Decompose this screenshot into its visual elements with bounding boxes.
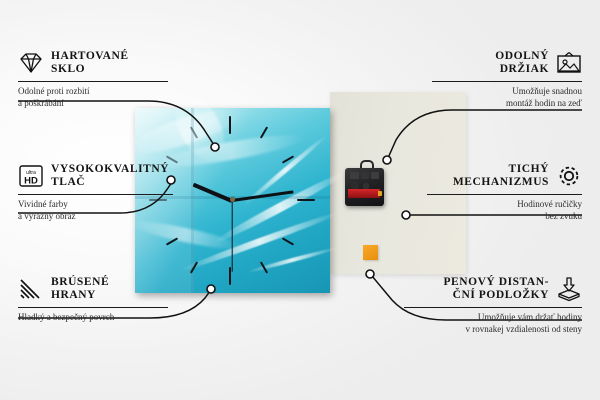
feature-desc-line1: Odolné proti rozbití xyxy=(18,86,90,96)
feature-ground-edges: BRÚSENÉ HRANY Hladký a bezpečný povrch xyxy=(18,276,168,324)
feature-title-line2: ČNÍ PODLOŽKY xyxy=(453,289,549,301)
feature-desc-line2: bez zvuku xyxy=(545,211,582,221)
feature-title-line1: PENOVÝ DISTAN- xyxy=(443,276,549,288)
feature-desc-line2: montáž hodin na zeď xyxy=(506,98,582,108)
feature-title-line1: ODOLNÝ xyxy=(495,50,549,62)
feature-title-line2: MECHANIZMUS xyxy=(453,176,549,188)
feature-foam-spacers: PENOVÝ DISTAN- ČNÍ PODLOŽKY Umožňuje vám… xyxy=(404,276,582,335)
feature-desc-line1: Umožňuje snadnou xyxy=(512,86,582,96)
hour-tick xyxy=(282,237,294,245)
feature-title-line1: BRÚSENÉ xyxy=(51,276,109,288)
feature-title-line2: DRŽIAK xyxy=(500,63,549,75)
feature-title-line1: VYSOKOKVALITNÝ xyxy=(51,163,169,175)
feature-desc-line2: a výrazný obraz xyxy=(18,211,75,221)
feature-durable-mount: ODOLNÝ DRŽIAK Umožňuje snadnou montáž ho… xyxy=(432,50,582,109)
feature-silent-mechanism: TICHÝ MECHANIZMUS Hodinové ručičky bez z… xyxy=(427,163,582,222)
feature-hq-print: ultra HD VYSOKOKVALITNÝ TLAČ Vividné far… xyxy=(18,163,173,222)
divider xyxy=(18,194,173,195)
feature-desc-line1: Vividné farby xyxy=(18,199,68,209)
clock-hub xyxy=(230,197,235,202)
hour-hand xyxy=(193,183,233,203)
divider xyxy=(432,81,582,82)
foam-pad-icon xyxy=(556,277,582,301)
feature-desc-line1: Umožňuje vám držať hodiny xyxy=(478,312,582,322)
hour-tick xyxy=(229,116,231,134)
feature-title-line1: TICHÝ xyxy=(509,163,549,175)
diamond-icon xyxy=(18,51,44,75)
feature-desc-line2: v rovnakej vzdialenosti od steny xyxy=(466,324,582,334)
gear-icon xyxy=(556,164,582,188)
clock-mechanism xyxy=(345,168,384,206)
feature-title-line2: TLAČ xyxy=(51,176,85,188)
hour-tick xyxy=(297,199,315,201)
feature-desc-line1: Hodinové ručičky xyxy=(517,199,582,209)
infographic-canvas: HARTOVANÉ SKLO Odolné proti rozbití a po… xyxy=(0,0,600,400)
feature-desc-line1: Hladký a bezpečný povrch xyxy=(18,312,114,322)
battery xyxy=(348,189,380,198)
foam-pad xyxy=(363,245,378,260)
feature-title-line2: SKLO xyxy=(51,63,85,75)
second-hand xyxy=(231,200,232,272)
divider xyxy=(404,307,582,308)
divider xyxy=(427,194,582,195)
feature-desc-line2: a poškrábání xyxy=(18,98,64,108)
ultra-hd-icon: ultra HD xyxy=(18,164,44,188)
battery-terminal xyxy=(378,191,382,196)
svg-text:HD: HD xyxy=(24,176,38,187)
picture-frame-icon xyxy=(556,51,582,75)
ground-edges-icon xyxy=(18,277,44,301)
feature-tempered-glass: HARTOVANÉ SKLO Odolné proti rozbití a po… xyxy=(18,50,168,109)
divider xyxy=(18,307,168,308)
feature-title-line1: HARTOVANÉ xyxy=(51,50,129,62)
divider xyxy=(18,81,168,82)
feature-title-line2: HRANY xyxy=(51,289,96,301)
